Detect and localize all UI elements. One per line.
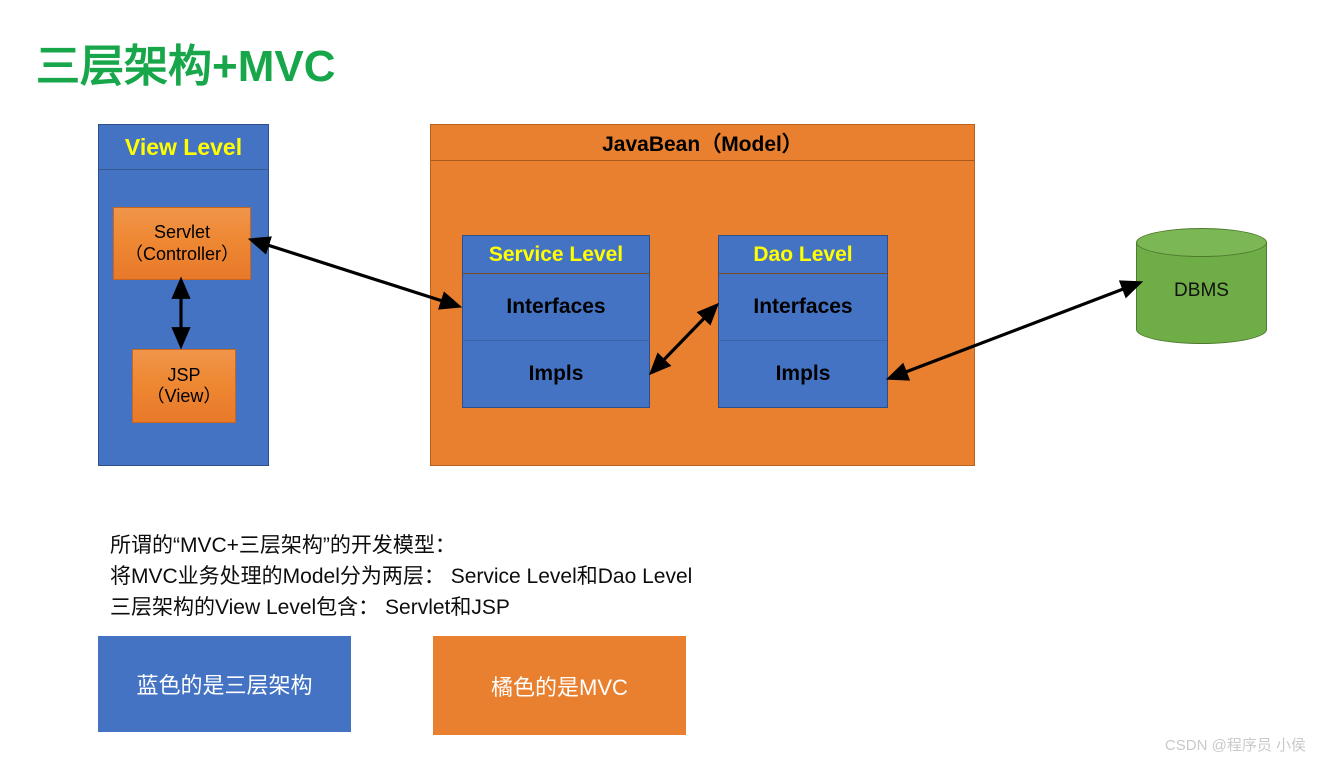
jsp-label-line2: （View） xyxy=(147,386,222,407)
dao-level-box: Dao Level Interfaces Impls xyxy=(718,235,888,408)
slide-canvas: 三层架构+MVC View Level Servlet （Controller）… xyxy=(0,0,1320,763)
dao-level-header: Dao Level xyxy=(719,236,887,274)
description-line-3: 三层架构的View Level包含： Servlet和JSP xyxy=(110,592,692,623)
description-line-2: 将MVC业务处理的Model分为两层： Service Level和Dao Le… xyxy=(110,561,692,592)
javabean-model-panel: JavaBean（Model） Service Level Interfaces… xyxy=(430,124,975,466)
dbms-cylinder-top xyxy=(1136,228,1267,257)
service-level-header: Service Level xyxy=(463,236,649,274)
jsp-label-line1: JSP xyxy=(167,365,200,386)
page-title: 三层架构+MVC xyxy=(36,30,335,94)
service-level-impls-row: Impls xyxy=(463,341,649,407)
description-block: 所谓的“MVC+三层架构”的开发模型： 将MVC业务处理的Model分为两层： … xyxy=(110,530,692,623)
dao-level-interfaces-row: Interfaces xyxy=(719,274,887,341)
servlet-label-line2: （Controller） xyxy=(125,244,239,265)
servlet-controller-box: Servlet （Controller） xyxy=(113,207,251,280)
jsp-view-box: JSP （View） xyxy=(132,349,236,423)
dbms-cylinder: DBMS xyxy=(1136,228,1267,344)
dbms-label: DBMS xyxy=(1136,280,1267,302)
description-line-1: 所谓的“MVC+三层架构”的开发模型： xyxy=(110,530,692,561)
legend-orange-box: 橘色的是MVC xyxy=(433,636,686,735)
dao-level-impls-row: Impls xyxy=(719,341,887,407)
view-level-header: View Level xyxy=(99,125,268,170)
watermark: CSDN @程序员 小侯 xyxy=(1165,734,1306,755)
legend-blue-box: 蓝色的是三层架构 xyxy=(98,636,351,732)
view-level-panel: View Level Servlet （Controller） JSP （Vie… xyxy=(98,124,269,466)
service-level-box: Service Level Interfaces Impls xyxy=(462,235,650,408)
service-level-interfaces-row: Interfaces xyxy=(463,274,649,341)
arrow-servlet-service-level xyxy=(252,240,458,306)
servlet-label-line1: Servlet xyxy=(154,222,210,243)
javabean-header: JavaBean（Model） xyxy=(431,125,974,161)
